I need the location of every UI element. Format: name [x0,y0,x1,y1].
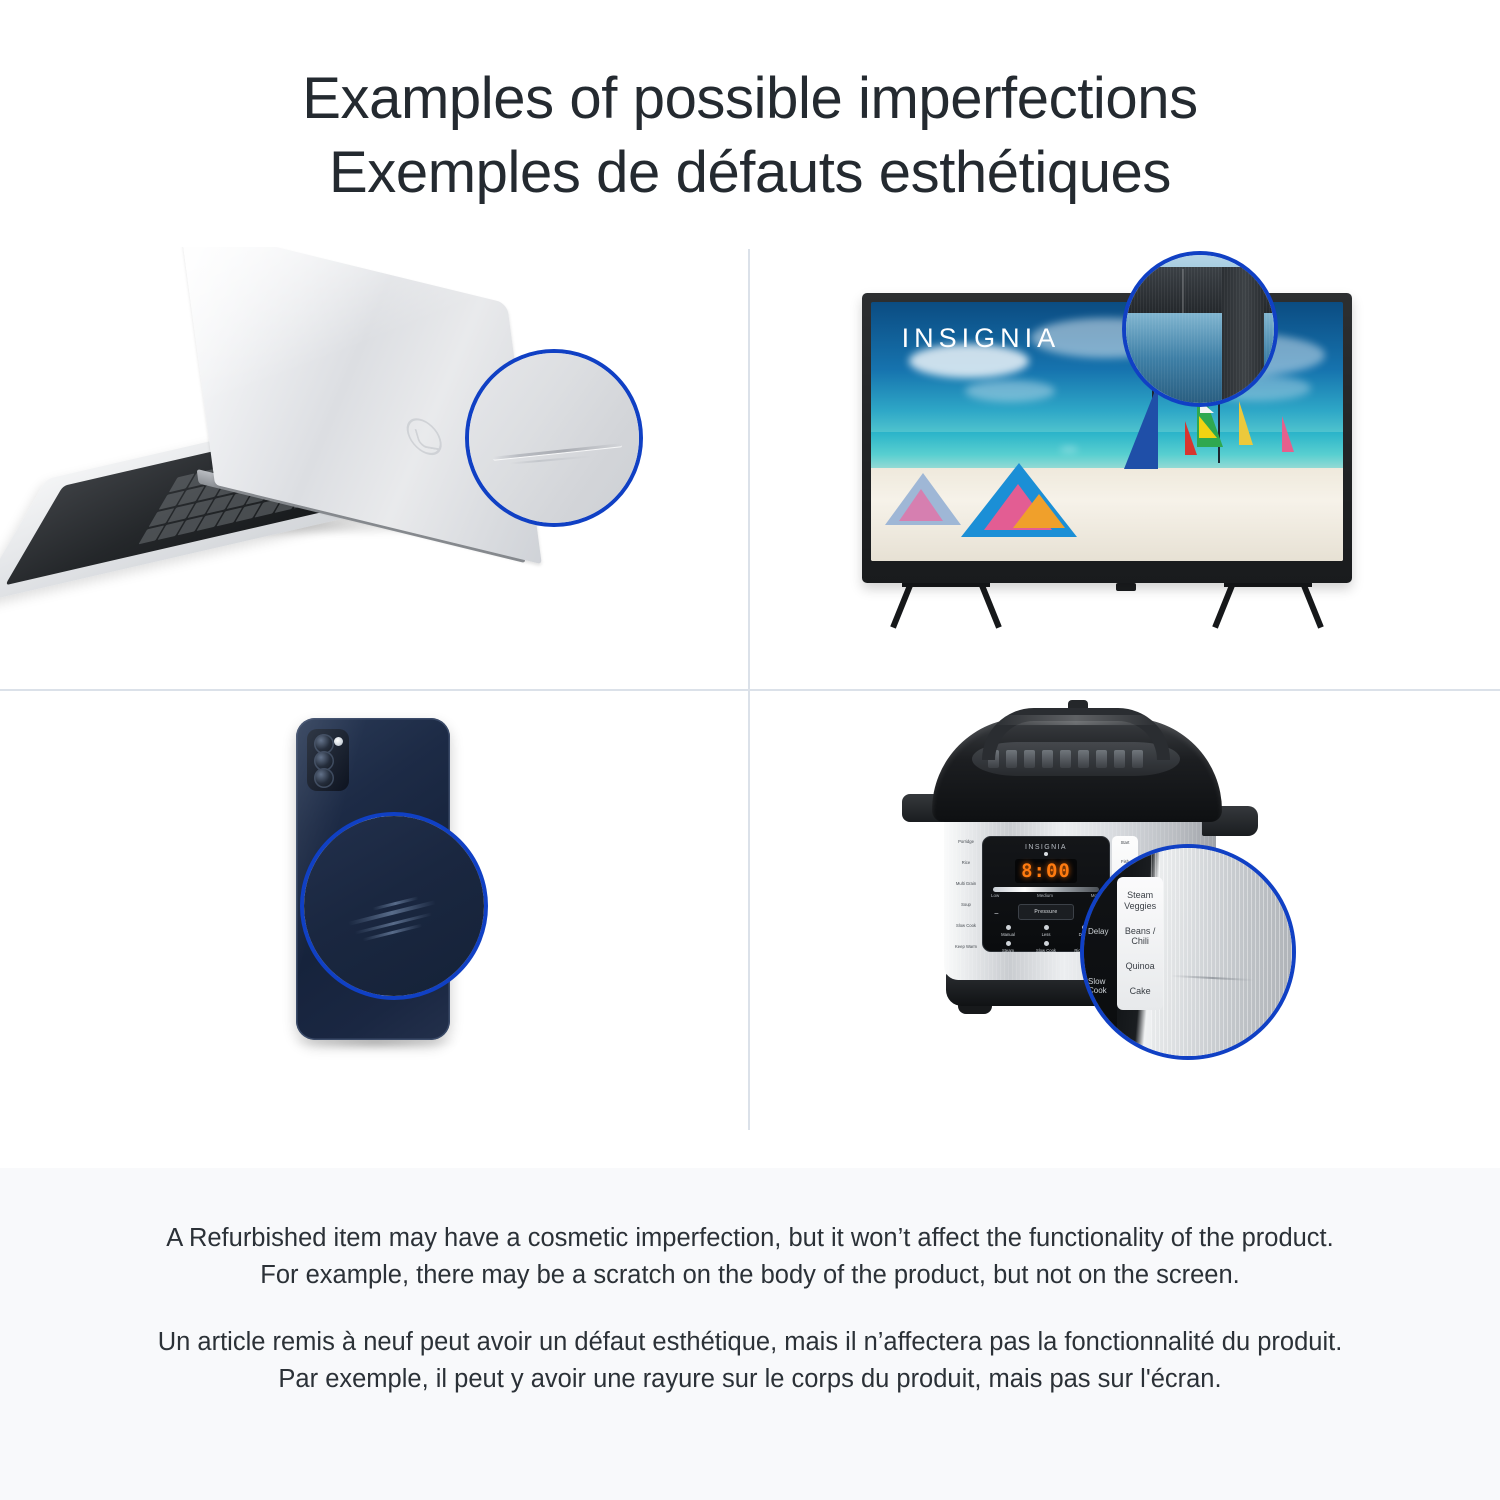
camera-flash-icon [334,737,343,746]
cooker-key-label: Manual [1001,932,1015,937]
tv-magnifier-circle [1122,251,1278,407]
cooker-side-button[interactable]: Slow Cook [954,923,978,928]
cooker-key-label: Less [1042,932,1051,937]
cooker-timer-value: 8:00 [1021,860,1071,882]
tv-body: INSIGNIA [862,293,1352,583]
cooker-side-button[interactable]: Rice [954,860,978,865]
laptop-illustration [0,247,748,689]
disclaimer-text-fr: Un article remis à neuf peut avoir un dé… [150,1324,1350,1398]
slider-label-medium: Medium [1037,893,1053,898]
cooker-mag-dark-label: Delay [1088,927,1108,936]
sailboat-sail [1185,421,1197,455]
tv-magnified-corner [1126,255,1274,403]
tv-bezel-grain [1122,267,1278,407]
cooker-mag-button[interactable]: Steam Veggies [1117,890,1163,911]
tv-leg-left [902,583,990,587]
phone-scratch-mark [362,924,422,942]
cooker-magnified-surface: Delay Slow Cook Steam Veggies Beans / Ch… [1084,848,1292,1056]
cooker-mag-button[interactable]: Beans / Chili [1117,926,1163,947]
tv-center-badge [1116,583,1136,591]
cooker-magnifier-circle: Delay Slow Cook Steam Veggies Beans / Ch… [1080,844,1296,1060]
phone-camera-module [307,729,349,791]
cooker-lid-handle [982,708,1170,760]
sailboat-sail [1239,401,1253,445]
disclaimer-text-en: A Refurbished item may have a cosmetic i… [150,1220,1350,1294]
cooker-key-label: Slow Cook [1036,948,1056,953]
page-header: Examples of possible imperfections Exemp… [0,0,1500,209]
cloud-shape [965,380,1055,402]
phone-illustration [0,690,748,1132]
cooker-side-button[interactable]: Porridge [954,839,978,844]
cooker-indicator-dot [1044,852,1048,856]
tv-illustration: INSIGNIA [750,247,1500,689]
cooker-illustration: Porridge Rice Multi Grain Soup Slow Cook… [750,690,1500,1132]
cooker-key[interactable]: Slow Cook [1030,941,1062,953]
cooker-side-button[interactable]: Soup [954,902,978,907]
panel-laptop [0,247,750,690]
cooker-mag-button[interactable]: Quinoa [1117,961,1163,971]
tv-brand-logo: INSIGNIA [902,323,1061,354]
camera-lens-icon [314,734,334,754]
cooker-minus-button[interactable]: − [994,909,999,918]
cooker-side-button[interactable]: Keep Warm [954,944,978,949]
camera-lens-icon [314,768,334,788]
panel-pressure-cooker: Porridge Rice Multi Grain Soup Slow Cook… [750,690,1500,1133]
slider-label-low: Low [991,893,999,898]
page-title-en: Examples of possible imperfections [0,62,1500,136]
sailboat-sail [1282,416,1294,452]
laptop-magnified-surface [469,353,639,523]
beach-tent-stripe [1013,494,1065,528]
sailboat-sail-stripe [1199,416,1217,438]
cooker-key[interactable]: Manual [992,925,1024,937]
cooker-mag-dark-panel: Delay Slow Cook [1084,848,1117,1056]
tv-scene-sea [871,432,1343,473]
cooker-mag-dark-label: Slow Cook [1088,977,1117,995]
laptop-magnifier-circle [465,349,643,527]
tv-scuff-mark [1182,269,1184,313]
page-title: Examples of possible imperfections Exemp… [0,62,1500,209]
panel-smartphone [0,690,750,1133]
panel-television: INSIGNIA [750,247,1500,690]
cooker-key[interactable]: Less [1030,925,1062,937]
cooker-key-label: Steam [1002,948,1014,953]
tv-leg-right [1224,583,1312,587]
cooker-pressure-button[interactable]: Pressure [1018,904,1074,920]
disclaimer-section: A Refurbished item may have a cosmetic i… [0,1168,1500,1500]
dell-logo-icon [402,416,446,458]
cooker-left-button-strip: Porridge Rice Multi Grain Soup Slow Cook… [954,836,978,952]
cooker-brushed-steel-texture [1151,848,1292,1056]
beach-tent-stripe [899,489,943,521]
page-title-fr: Exemples de défauts esthétiques [0,136,1500,210]
product-examples-grid: INSIGNIA [0,247,1500,1132]
phone-magnified-back [304,816,484,996]
cooker-mag-button[interactable]: Cake [1117,986,1163,996]
refurbished-imperfections-page: Examples of possible imperfections Exemp… [0,0,1500,1500]
cooker-side-button[interactable]: Multi Grain [954,881,978,886]
camera-lens-icon [314,751,334,771]
cooker-mag-button-strip: Steam Veggies Beans / Chili Quinoa Cake [1117,877,1163,1010]
phone-magnifier-circle [300,812,488,1000]
cooker-side-button[interactable]: Start [1112,840,1138,845]
cooker-led-display: 8:00 [1015,859,1077,883]
cooker-key[interactable]: Steam [992,941,1024,953]
